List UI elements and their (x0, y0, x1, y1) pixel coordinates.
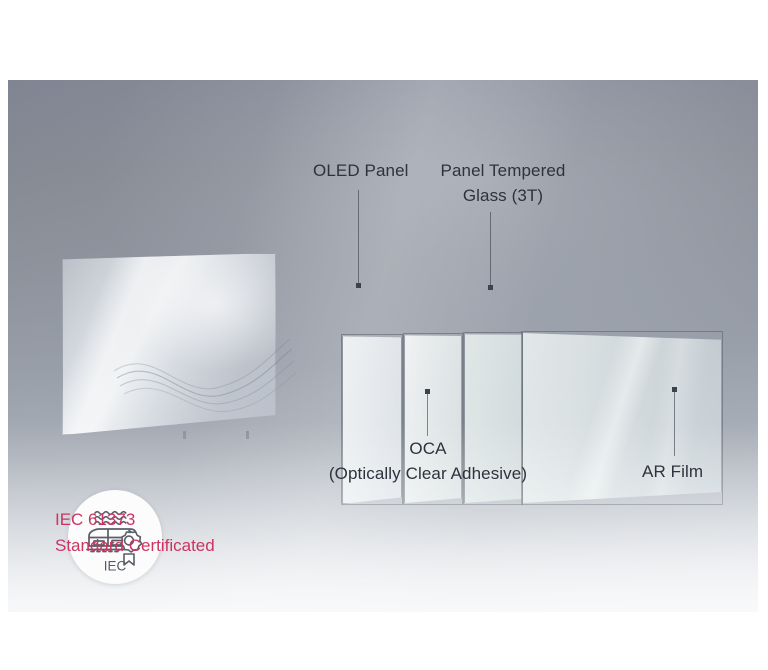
iec-caption-line2: Standard Certificated (55, 533, 215, 559)
callout-label-ar-film: AR Film (642, 460, 703, 485)
image-canvas: IEC OLED Panel Panel Tempered Glass (3T)… (0, 0, 768, 670)
panel-stand-nub-right (246, 431, 249, 439)
callout-label-tempered-glass: Panel Tempered Glass (3T) (430, 159, 576, 208)
callout-label-tempered-glass-line2: Glass (3T) (430, 184, 576, 209)
iec-standard-caption: IEC 61373 Standard Certificated (55, 507, 215, 558)
callout-label-oca-line1: OCA (318, 437, 538, 462)
iec-badge-inner-label: IEC (104, 559, 127, 574)
callout-label-oled-panel: OLED Panel (313, 159, 409, 184)
panel-wave-graphic (62, 253, 276, 435)
leader-line-oled-panel (358, 190, 359, 285)
leader-dot-ar-film (672, 387, 677, 392)
callout-label-oca: OCA (Optically Clear Adhesive) (318, 437, 538, 486)
leader-dot-tempered-glass (488, 285, 493, 290)
display-panel-glass (62, 253, 276, 435)
leader-line-oca (427, 392, 428, 436)
leader-line-tempered-glass (490, 212, 491, 288)
iec-caption-line1: IEC 61373 (55, 507, 215, 533)
leader-line-ar-film (674, 391, 675, 456)
leader-dot-oled-panel (356, 283, 361, 288)
callout-label-tempered-glass-line1: Panel Tempered (430, 159, 576, 184)
leader-dot-oca (425, 389, 430, 394)
panel-stand-nub-left (183, 431, 186, 439)
callout-label-oca-line2: (Optically Clear Adhesive) (318, 462, 538, 487)
